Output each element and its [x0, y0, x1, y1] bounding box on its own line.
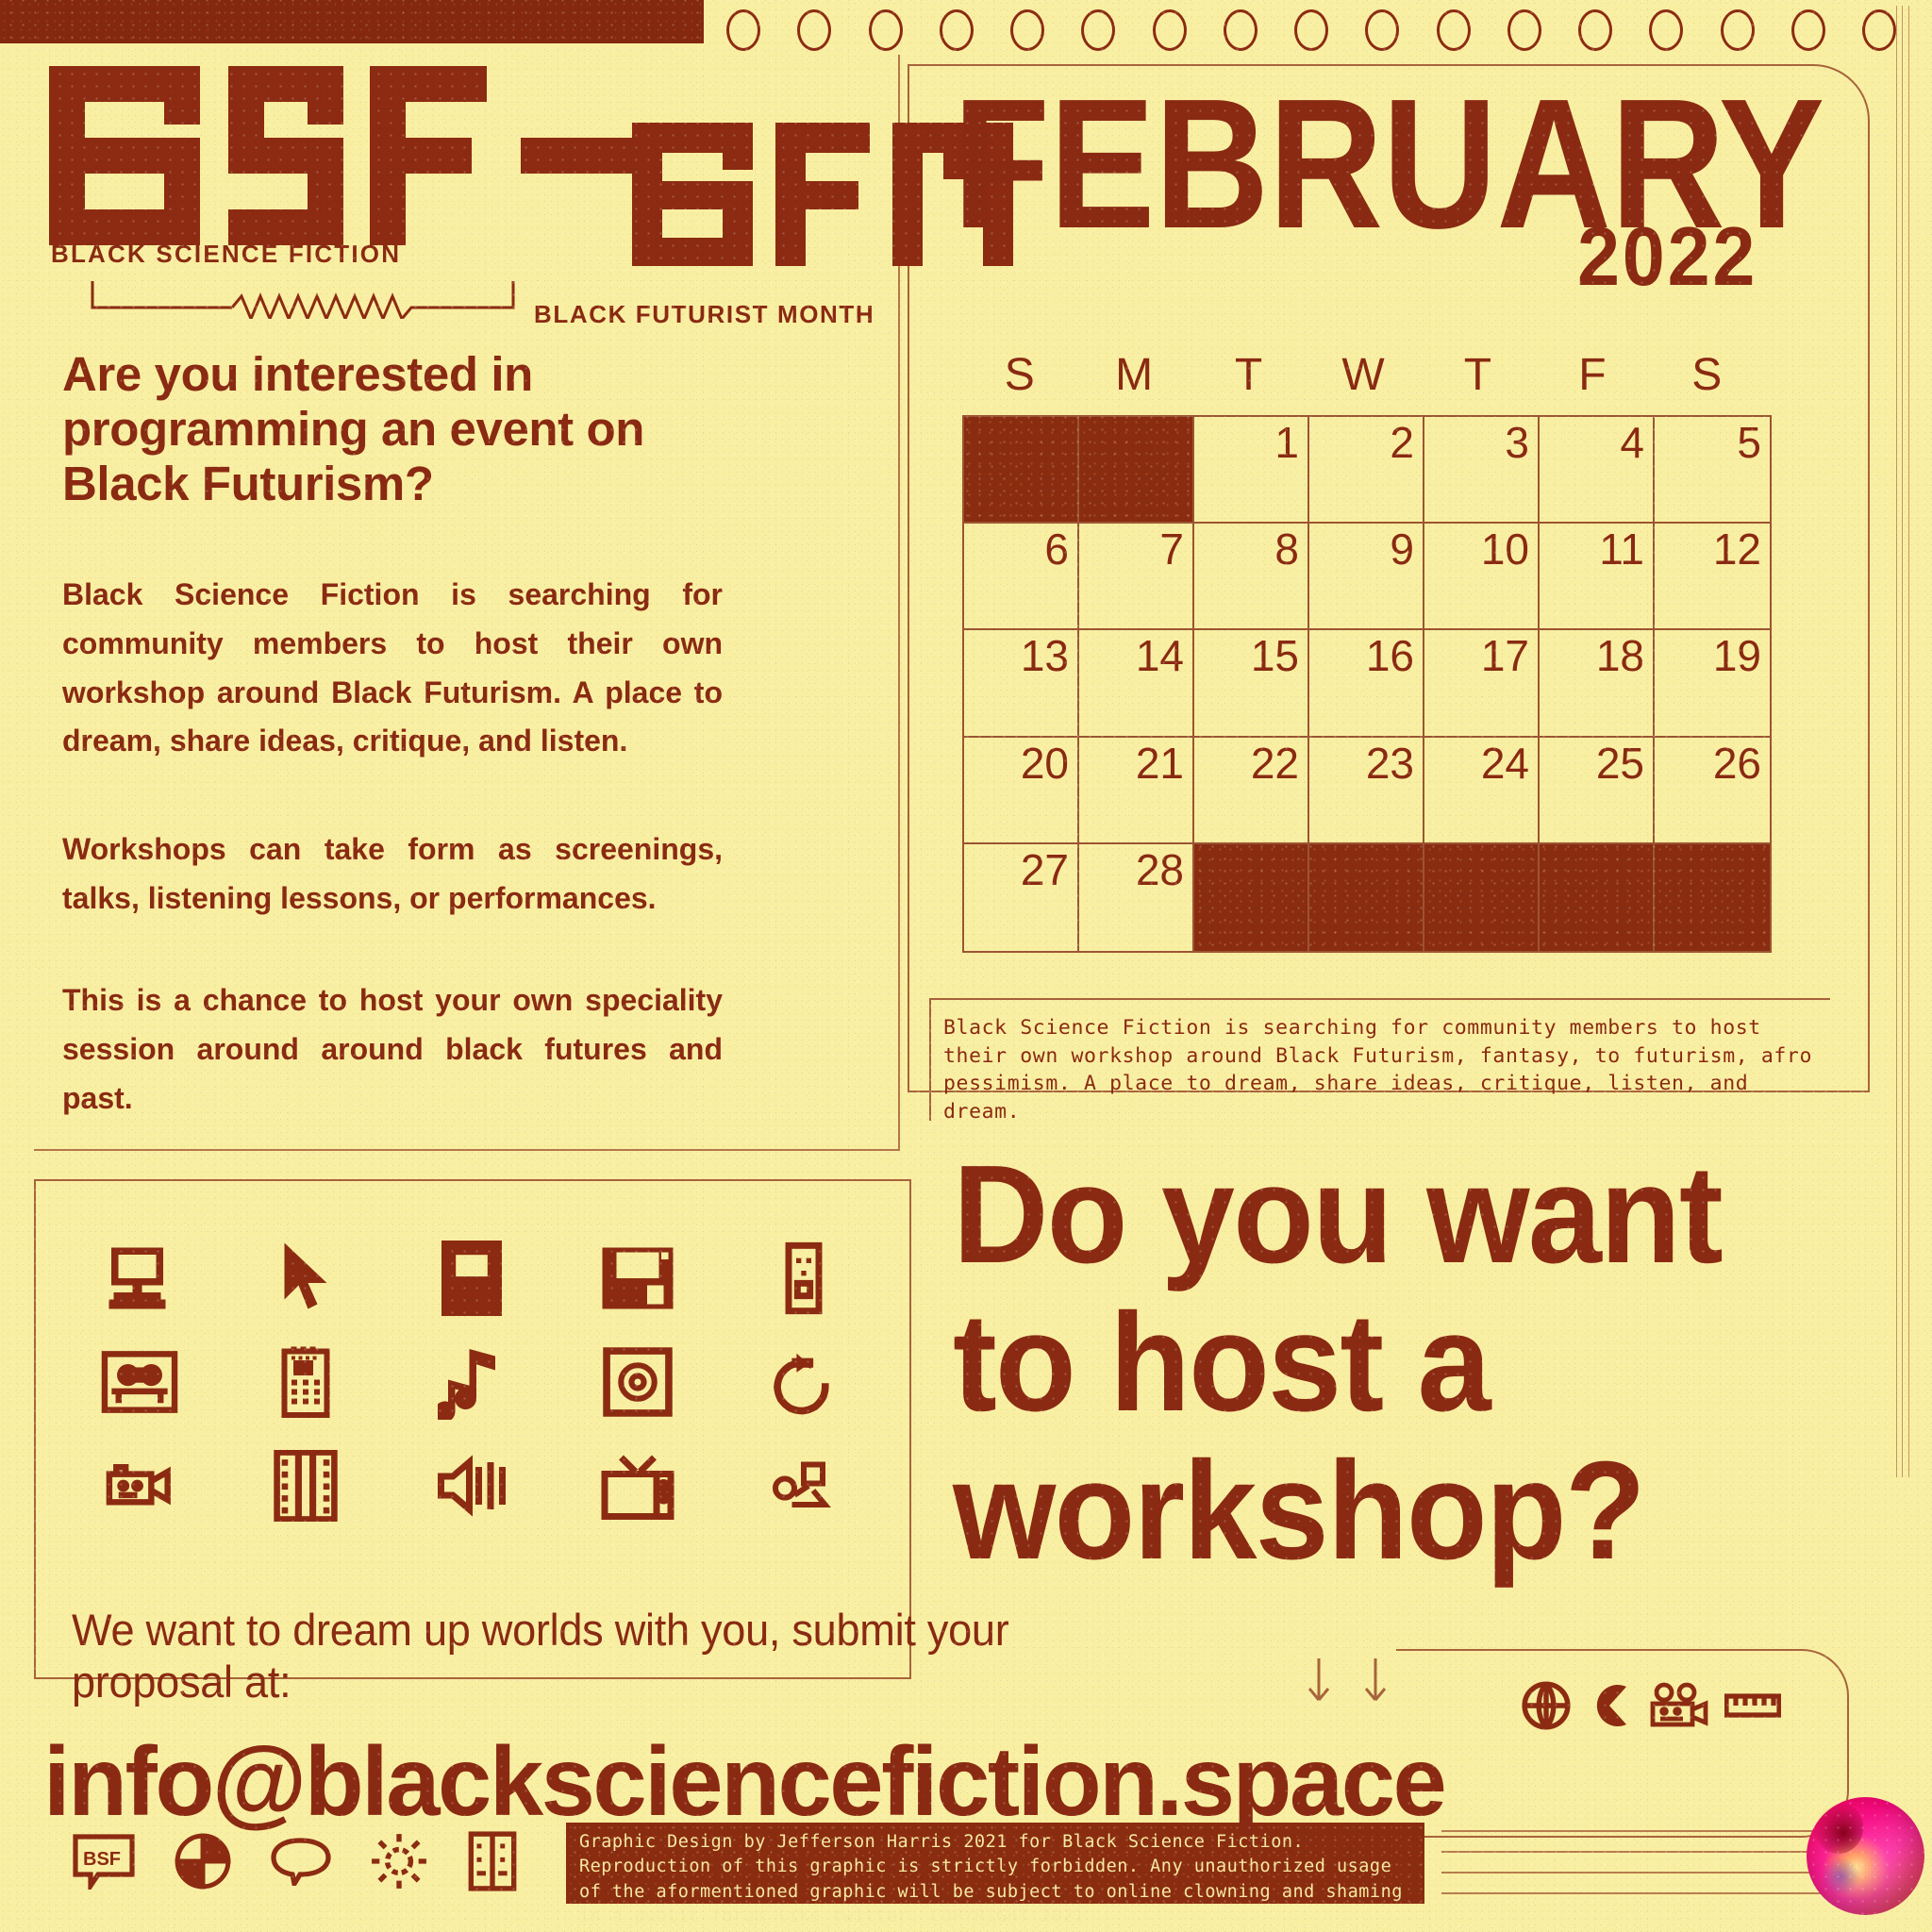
- body-paragraph-1: Black Science Fiction is searching for c…: [62, 571, 723, 766]
- calendar-day-cell: 4: [1540, 417, 1655, 524]
- binder-hole: [1153, 9, 1187, 51]
- calendar-day-number: 20: [1021, 741, 1069, 785]
- calendar-day-number: 6: [1044, 527, 1069, 571]
- calendar-day-number: 28: [1136, 848, 1184, 891]
- video-camera-icon: [99, 1445, 180, 1526]
- cta-tagline: We want to dream up worlds with you, sub…: [72, 1604, 1131, 1707]
- calendar-day-cell: 28: [1079, 844, 1194, 951]
- binder-hole: [797, 9, 831, 51]
- gradient-sphere: [1807, 1797, 1924, 1915]
- calendar-day-number: 12: [1713, 527, 1761, 571]
- calendar-day-cell: 13: [964, 630, 1079, 737]
- binder-hole: [1791, 9, 1825, 51]
- calendar-day-number: 25: [1596, 741, 1644, 785]
- music-note-icon: [431, 1341, 512, 1423]
- calendar-day-cell: 19: [1655, 630, 1770, 737]
- calendar-day-number: 18: [1596, 634, 1644, 677]
- satellite-dish-icon: [763, 1445, 844, 1526]
- calendar-day-number: 19: [1713, 634, 1761, 677]
- right-edge-rules: [1896, 6, 1913, 1477]
- cursor-arrow-icon: [265, 1238, 346, 1319]
- calendar-day-cell: 18: [1540, 630, 1655, 737]
- calendar-day-cell: 9: [1309, 524, 1424, 630]
- movie-camera-icon: [1647, 1682, 1711, 1734]
- calendar-day-cell: 10: [1424, 524, 1540, 630]
- binder-hole: [1224, 9, 1257, 51]
- binder-hole: [1437, 9, 1471, 51]
- television-icon: [597, 1445, 678, 1526]
- calendar-day-cell: 25: [1540, 738, 1655, 844]
- calendar-day-cell: 26: [1655, 738, 1770, 844]
- calendar-weekday-header: S M T W T F S: [962, 349, 1764, 406]
- calendar-day-cell: 6: [964, 524, 1079, 630]
- calendar-day-number: 27: [1021, 848, 1069, 891]
- calendar-cell-blocked: [1424, 844, 1540, 951]
- undo-arrow-icon: [763, 1341, 844, 1423]
- calendar-day-number: 17: [1481, 634, 1529, 677]
- binder-hole: [1862, 9, 1896, 51]
- calendar-day-number: 10: [1481, 527, 1529, 571]
- calendar-day-number: 3: [1505, 421, 1529, 464]
- speaker-volume-icon: [431, 1445, 512, 1526]
- logo-subtitle-bsf: BLACK SCIENCE FICTION: [51, 240, 401, 269]
- binder-hole: [1507, 9, 1541, 51]
- remote-control-icon: [763, 1238, 844, 1319]
- calendar-cell-blocked: [1309, 844, 1424, 951]
- globe-icon: [1521, 1680, 1572, 1736]
- desktop-computer-icon: [99, 1238, 180, 1319]
- calendar-day-cell: 7: [1079, 524, 1194, 630]
- calendar-day-cell: 12: [1655, 524, 1770, 630]
- calendar-day-number: 9: [1390, 527, 1414, 571]
- film-strip-icon: [265, 1445, 346, 1526]
- calendar-day-number: 11: [1599, 527, 1644, 571]
- calculator-icon: [265, 1341, 346, 1423]
- calendar-day-number: 22: [1251, 741, 1299, 785]
- binder-hole: [1081, 9, 1115, 51]
- calendar-day-cell: 27: [964, 844, 1079, 951]
- weekday-label: F: [1535, 349, 1649, 406]
- calendar-cell-blocked: [1194, 844, 1309, 951]
- weekday-label: S: [1650, 349, 1764, 406]
- calendar-cell-blocked: [964, 417, 1079, 524]
- squiggle-bracket-icon: [91, 279, 515, 319]
- calendar-day-cell: 17: [1424, 630, 1540, 737]
- calendar-note-rule: [929, 998, 1830, 1000]
- weekday-label: M: [1076, 349, 1191, 406]
- brightness-sun-icon: [370, 1832, 428, 1895]
- calendar-day-number: 26: [1713, 741, 1761, 785]
- svg-text:BSF: BSF: [83, 1849, 121, 1870]
- calendar-day-cell: 8: [1194, 524, 1309, 630]
- calendar-day-grid: 1234567891011121314151617181920212223242…: [962, 415, 1772, 953]
- calendar-cell-blocked: [1079, 417, 1194, 524]
- calendar-day-number: 4: [1620, 421, 1644, 464]
- binder-hole: [1365, 9, 1399, 51]
- binder-hole: [1010, 9, 1044, 51]
- calendar-day-cell: 3: [1424, 417, 1540, 524]
- floppy-disk-icon: [597, 1238, 678, 1319]
- calendar-day-number: 15: [1251, 634, 1299, 677]
- weekday-label: T: [1191, 349, 1306, 406]
- retro-icon-grid: [57, 1226, 887, 1538]
- mini-icon-row: [1521, 1672, 1794, 1743]
- calendar-note-vertical-rule: [929, 998, 931, 1121]
- calendar-day-cell: 1: [1194, 417, 1309, 524]
- calendar-day-number: 2: [1390, 421, 1414, 464]
- page-headline: Are you interested in programming an eve…: [62, 347, 723, 511]
- cd-disc-icon: [597, 1341, 678, 1423]
- ruler-icon: [1724, 1687, 1781, 1729]
- body-paragraph-2: Workshops can take form as screenings, t…: [62, 825, 723, 924]
- brand-logo: [49, 58, 709, 261]
- pacman-icon: [1585, 1680, 1634, 1736]
- speech-bubble-icon: [270, 1837, 332, 1890]
- weekday-label: T: [1421, 349, 1535, 406]
- binder-hole: [869, 9, 903, 51]
- body-paragraph-3: This is a chance to host your own specia…: [62, 976, 723, 1123]
- binder-hole: [726, 9, 760, 51]
- calendar-day-number: 8: [1274, 527, 1299, 571]
- domino-icon: [466, 1830, 519, 1897]
- binder-holes: [726, 9, 1896, 51]
- calendar-day-number: 13: [1021, 634, 1069, 677]
- copy-block-bottom-rule: [34, 1149, 900, 1151]
- calendar-day-cell: 20: [964, 738, 1079, 844]
- calendar-day-cell: 23: [1309, 738, 1424, 844]
- footer-rules: [1441, 1830, 1847, 1896]
- calendar-note-text: Black Science Fiction is searching for c…: [943, 1014, 1830, 1126]
- bsf-speech-bubble-icon: BSF: [72, 1833, 136, 1894]
- binder-hole: [1721, 9, 1755, 51]
- binder-hole: [1578, 9, 1612, 51]
- footer-icon-row: BSF: [72, 1821, 430, 1906]
- calendar-day-cell: 24: [1424, 738, 1540, 844]
- calendar-day-cell: 22: [1194, 738, 1309, 844]
- calendar-day-cell: 16: [1309, 630, 1424, 737]
- calendar-day-cell: 2: [1309, 417, 1424, 524]
- calendar-day-number: 14: [1136, 634, 1184, 677]
- calendar-day-number: 21: [1136, 741, 1184, 785]
- calendar-year: 2022: [1577, 215, 1757, 298]
- binder-hole: [1294, 9, 1328, 51]
- top-dark-bar: [0, 0, 704, 43]
- binder-hole: [940, 9, 974, 51]
- calendar-day-number: 16: [1366, 634, 1414, 677]
- weekday-label: W: [1306, 349, 1420, 406]
- logo-subtitle-bfm: BLACK FUTURIST MONTH: [534, 300, 874, 329]
- calendar-day-cell: 11: [1540, 524, 1655, 630]
- compact-mac-icon: [431, 1238, 512, 1319]
- display-question: Do you want to host a workshop?: [953, 1141, 1787, 1586]
- calendar-day-cell: 15: [1194, 630, 1309, 737]
- calendar-cell-blocked: [1540, 844, 1655, 951]
- calendar-day-number: 5: [1737, 421, 1761, 464]
- calendar-day-cell: 21: [1079, 738, 1194, 844]
- copyright-text: Graphic Design by Jefferson Harris 2021 …: [579, 1830, 1413, 1929]
- poster-root: BLACK SCIENCE FICTION BLACK FUTURIST MON…: [0, 0, 1932, 1932]
- pie-chart-icon: [174, 1832, 232, 1895]
- calendar-cell-blocked: [1655, 844, 1770, 951]
- calendar-day-number: 23: [1366, 741, 1414, 785]
- calendar-day-number: 24: [1481, 741, 1529, 785]
- calendar-day-cell: 5: [1655, 417, 1770, 524]
- down-arrows-icon: [1302, 1658, 1424, 1723]
- binder-hole: [1649, 9, 1683, 51]
- calendar-day-number: 1: [1274, 421, 1299, 464]
- calendar-day-number: 7: [1159, 527, 1184, 571]
- cassette-tape-icon: [99, 1341, 180, 1423]
- calendar-day-cell: 14: [1079, 630, 1194, 737]
- weekday-label: S: [962, 349, 1076, 406]
